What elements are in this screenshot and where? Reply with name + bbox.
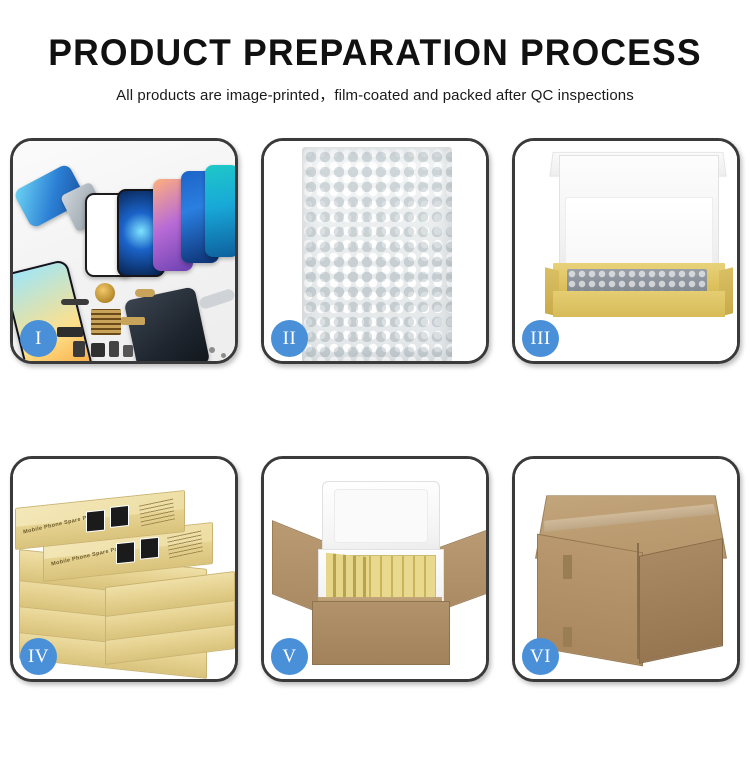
page-title: PRODUCT PREPARATION PROCESS	[15, 34, 735, 71]
step-badge-6: VI	[522, 638, 559, 675]
foam-cooler-lid-inner	[334, 489, 428, 543]
spare-part-flex-cable-2	[121, 317, 145, 325]
spare-part-screw-2	[221, 353, 226, 358]
process-step-panel-5[interactable]: V	[261, 456, 489, 682]
process-step-panel-6[interactable]: VI	[512, 456, 740, 682]
box-print-phone-image-2	[110, 505, 129, 528]
spare-part-coil	[95, 283, 115, 303]
carton-front-panel	[312, 601, 450, 665]
step-badge-5: V	[271, 638, 308, 675]
spare-part-connector-grid	[91, 309, 121, 335]
box-print-phone-image-3	[116, 541, 135, 564]
process-step-panel-1[interactable]: I	[10, 138, 238, 364]
spare-part-flex-cable-1	[57, 327, 83, 337]
process-step-panel-3[interactable]: III	[512, 138, 740, 364]
inner-box-front-panel	[553, 291, 725, 317]
page-header: PRODUCT PREPARATION PROCESS All products…	[0, 0, 750, 105]
step-badge-3: III	[522, 320, 559, 357]
spare-part-screw-1	[209, 347, 215, 353]
spare-part-chip-1	[73, 341, 85, 357]
page-subtitle: All products are image-printed，film-coat…	[0, 84, 750, 105]
phone-teal-gradient	[205, 165, 235, 257]
step-badge-1: I	[20, 320, 57, 357]
bubble-wrap-bag	[302, 147, 452, 361]
carton-contents-boxes-angled	[326, 553, 368, 603]
process-row-top: I II	[10, 138, 740, 364]
spare-part-chip-4	[123, 345, 133, 357]
step-badge-2: II	[271, 320, 308, 357]
spare-part-chip-3	[109, 341, 119, 357]
spare-part-chip-2	[91, 343, 105, 357]
process-row-bottom: Mobile Phone Spare Parts Mobile Phone Sp…	[10, 456, 740, 682]
sealed-carton-seam-lower	[563, 627, 572, 647]
box-print-phone-image-4	[140, 537, 159, 560]
process-step-panel-2[interactable]: II	[261, 138, 489, 364]
repair-tweezers	[198, 288, 235, 311]
sealed-carton-right-face	[639, 538, 723, 664]
sealed-carton-seam-upper	[563, 555, 572, 579]
step-badge-4: IV	[20, 638, 57, 675]
box-print-phone-image-1	[86, 509, 105, 532]
process-step-grid: I II	[10, 138, 740, 774]
spare-part-flex-cable-3	[135, 289, 155, 297]
process-step-panel-4[interactable]: Mobile Phone Spare Parts Mobile Phone Sp…	[10, 456, 238, 682]
bubble-wrap-texture	[302, 147, 452, 361]
spare-part-speaker-bar	[61, 299, 89, 305]
sealed-carton-edge	[637, 543, 639, 659]
